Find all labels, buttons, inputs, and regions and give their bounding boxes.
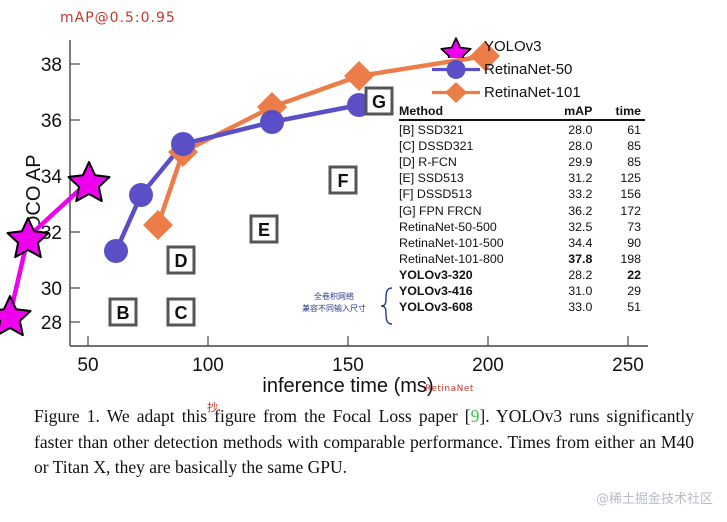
table-row: [F] DSSD51333.2156	[399, 186, 645, 202]
table-row: YOLOv3-60833.051	[399, 299, 645, 315]
cell-method: RetinaNet-50-500	[399, 219, 542, 235]
y-tick-label: 30	[41, 279, 62, 300]
cell-method: [G] FPN FRCN	[399, 203, 542, 219]
x-tick-label: 50	[77, 355, 98, 376]
y-tick-label: 36	[41, 111, 62, 132]
plot-point-labels: B C D E F	[110, 88, 392, 325]
y-tick-label: 38	[41, 55, 62, 76]
diamond-icon	[430, 81, 482, 104]
cell-map: 36.2	[542, 203, 598, 219]
cell-time: 90	[598, 235, 645, 251]
watermark: @稀土掘金技术社区	[596, 488, 713, 507]
cell-time: 198	[598, 251, 645, 267]
cell-time: 29	[598, 283, 645, 299]
caption-part-1: Figure 1. We adapt this figure from the …	[34, 406, 471, 426]
plot-label-F: F	[330, 167, 356, 193]
legend-label: RetinaNet-50	[484, 61, 572, 78]
cell-method: [B] SSD321	[399, 120, 542, 138]
x-tick-label: 100	[192, 355, 224, 376]
cell-map: 37.8	[542, 251, 598, 267]
cell-time: 125	[598, 170, 645, 186]
cell-map: 31.0	[542, 283, 598, 299]
cell-map: 32.5	[542, 219, 598, 235]
cell-time: 156	[598, 186, 645, 202]
table-header-row: Method mAP time	[399, 103, 645, 120]
cell-map: 33.2	[542, 186, 598, 202]
svg-text:B: B	[117, 303, 130, 323]
svg-text:G: G	[372, 92, 386, 112]
x-tick-label: 200	[472, 355, 504, 376]
table-row: RetinaNet-50-50032.573	[399, 219, 645, 235]
table-row: [E] SSD51331.2125	[399, 170, 645, 186]
plot-label-C: C	[168, 299, 194, 325]
figure-caption: Figure 1. We adapt this figure from the …	[34, 404, 694, 481]
figure-container: 38 36 34 32 30 28 50 100 150 200 250 COC…	[0, 0, 727, 522]
cell-method: RetinaNet-101-800	[399, 251, 542, 267]
circle-icon	[430, 58, 482, 81]
legend-label: RetinaNet-101	[484, 84, 581, 101]
column-header-map: mAP	[542, 103, 598, 120]
table-row: [C] DSSD32128.085	[399, 138, 645, 154]
cell-method: [D] R-FCN	[399, 154, 542, 170]
brace-icon	[381, 288, 392, 324]
legend-item-yolov3: YOLOv3	[430, 35, 581, 58]
table-row: RetinaNet-101-80037.8198	[399, 251, 645, 267]
cell-map: 31.2	[542, 170, 598, 186]
cell-map: 33.0	[542, 299, 598, 315]
legend-label: YOLOv3	[484, 38, 542, 55]
cell-map: 28.0	[542, 138, 598, 154]
cell-time: 51	[598, 299, 645, 315]
plot-label-D: D	[168, 247, 194, 273]
x-tick-labels: 50 100 150 200 250	[77, 355, 643, 376]
cell-map: 28.2	[542, 267, 598, 283]
cell-time: 85	[598, 138, 645, 154]
x-tick-label: 150	[332, 355, 364, 376]
star-icon	[430, 35, 482, 58]
cell-time: 73	[598, 219, 645, 235]
cell-map: 29.9	[542, 154, 598, 170]
plot-label-B: B	[110, 299, 136, 325]
y-tick-label: 28	[41, 313, 62, 334]
x-axis-title: inference time (ms)	[262, 375, 433, 397]
table-row: RetinaNet-101-50034.490	[399, 235, 645, 251]
table-row: YOLOv3-41631.029	[399, 283, 645, 299]
plot-label-G: G	[366, 88, 392, 114]
cell-method: [C] DSSD321	[399, 138, 542, 154]
table-row: YOLOv3-32028.222	[399, 267, 645, 283]
column-header-time: time	[598, 103, 645, 120]
results-table: Method mAP time [B] SSD32128.061[C] DSSD…	[399, 103, 645, 315]
cell-method: YOLOv3-416	[399, 283, 542, 299]
cell-time: 85	[598, 154, 645, 170]
x-tick-label: 250	[612, 355, 644, 376]
cell-method: [F] DSSD513	[399, 186, 542, 202]
svg-text:E: E	[258, 220, 270, 240]
x-tick-marks	[88, 336, 628, 346]
legend-item-retinanet-50: RetinaNet-50	[430, 58, 581, 81]
table-row: [G] FPN FRCN36.2172	[399, 203, 645, 219]
cell-time: 61	[598, 120, 645, 138]
chart-legend: YOLOv3 RetinaNet-50 RetinaNet-101	[430, 35, 581, 104]
cell-map: 28.0	[542, 120, 598, 138]
column-header-method: Method	[399, 103, 542, 120]
cell-time: 172	[598, 203, 645, 219]
svg-text:F: F	[338, 171, 349, 191]
cell-method: YOLOv3-608	[399, 299, 542, 315]
cell-map: 34.4	[542, 235, 598, 251]
cell-method: RetinaNet-101-500	[399, 235, 542, 251]
cell-time: 22	[598, 267, 645, 283]
legend-item-retinanet-101: RetinaNet-101	[430, 81, 581, 104]
cell-method: YOLOv3-320	[399, 267, 542, 283]
cell-method: [E] SSD513	[399, 170, 542, 186]
table-row: [B] SSD32128.061	[399, 120, 645, 138]
svg-text:C: C	[175, 303, 188, 323]
svg-text:D: D	[175, 251, 188, 271]
plot-label-E: E	[251, 216, 277, 242]
table-row: [D] R-FCN29.985	[399, 154, 645, 170]
